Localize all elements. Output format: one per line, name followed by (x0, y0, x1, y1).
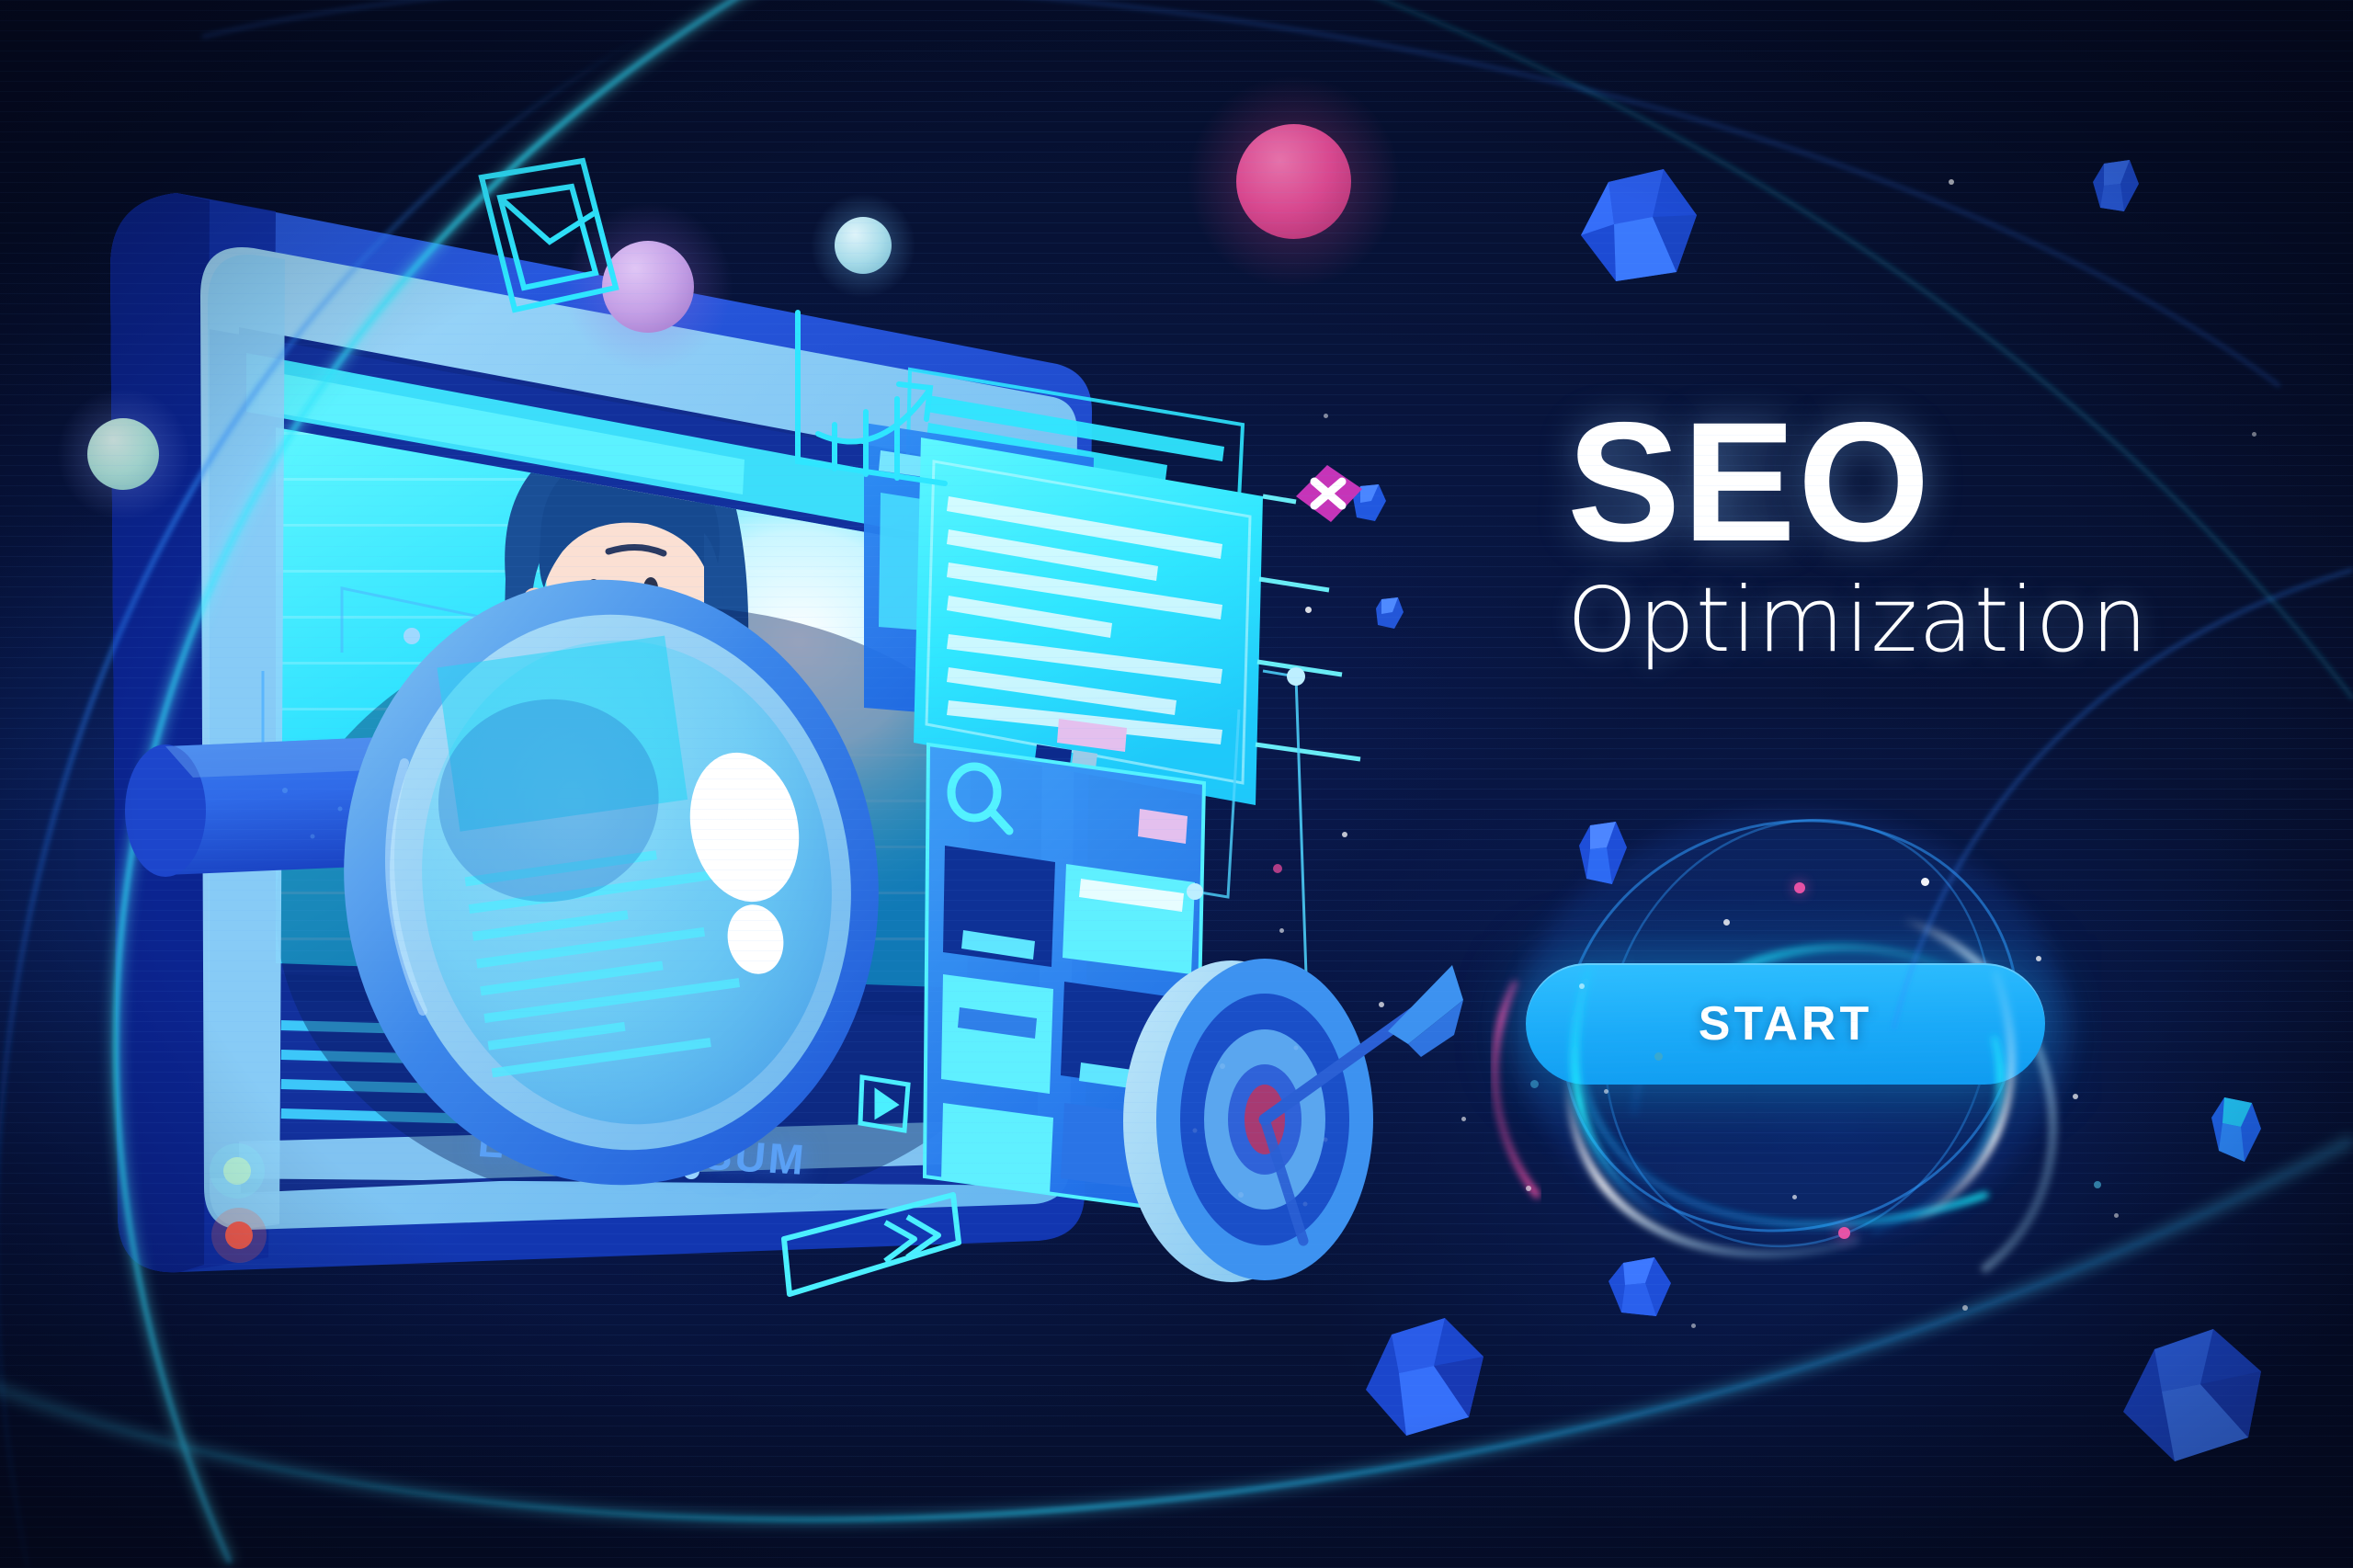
tag-badge (1057, 719, 1127, 752)
crystal-bottom-center (1360, 1314, 1498, 1443)
magnifier-icon (101, 579, 974, 1296)
crystal-above-start (1577, 816, 1632, 884)
growth-chart-icon (781, 303, 956, 506)
crystal-right-small (1605, 1256, 1677, 1322)
crystal-small-cyan (2208, 1094, 2267, 1167)
crystal-top-right (1574, 164, 1721, 292)
envelope-icon (471, 161, 627, 326)
crystal-bottom-right (2114, 1324, 2279, 1471)
seo-landing-hero: LOREM IPSUM (0, 0, 2353, 1568)
close-badge-icon (1296, 465, 1362, 522)
crystal-far-right (2091, 158, 2143, 215)
target-icon (1085, 928, 1471, 1314)
